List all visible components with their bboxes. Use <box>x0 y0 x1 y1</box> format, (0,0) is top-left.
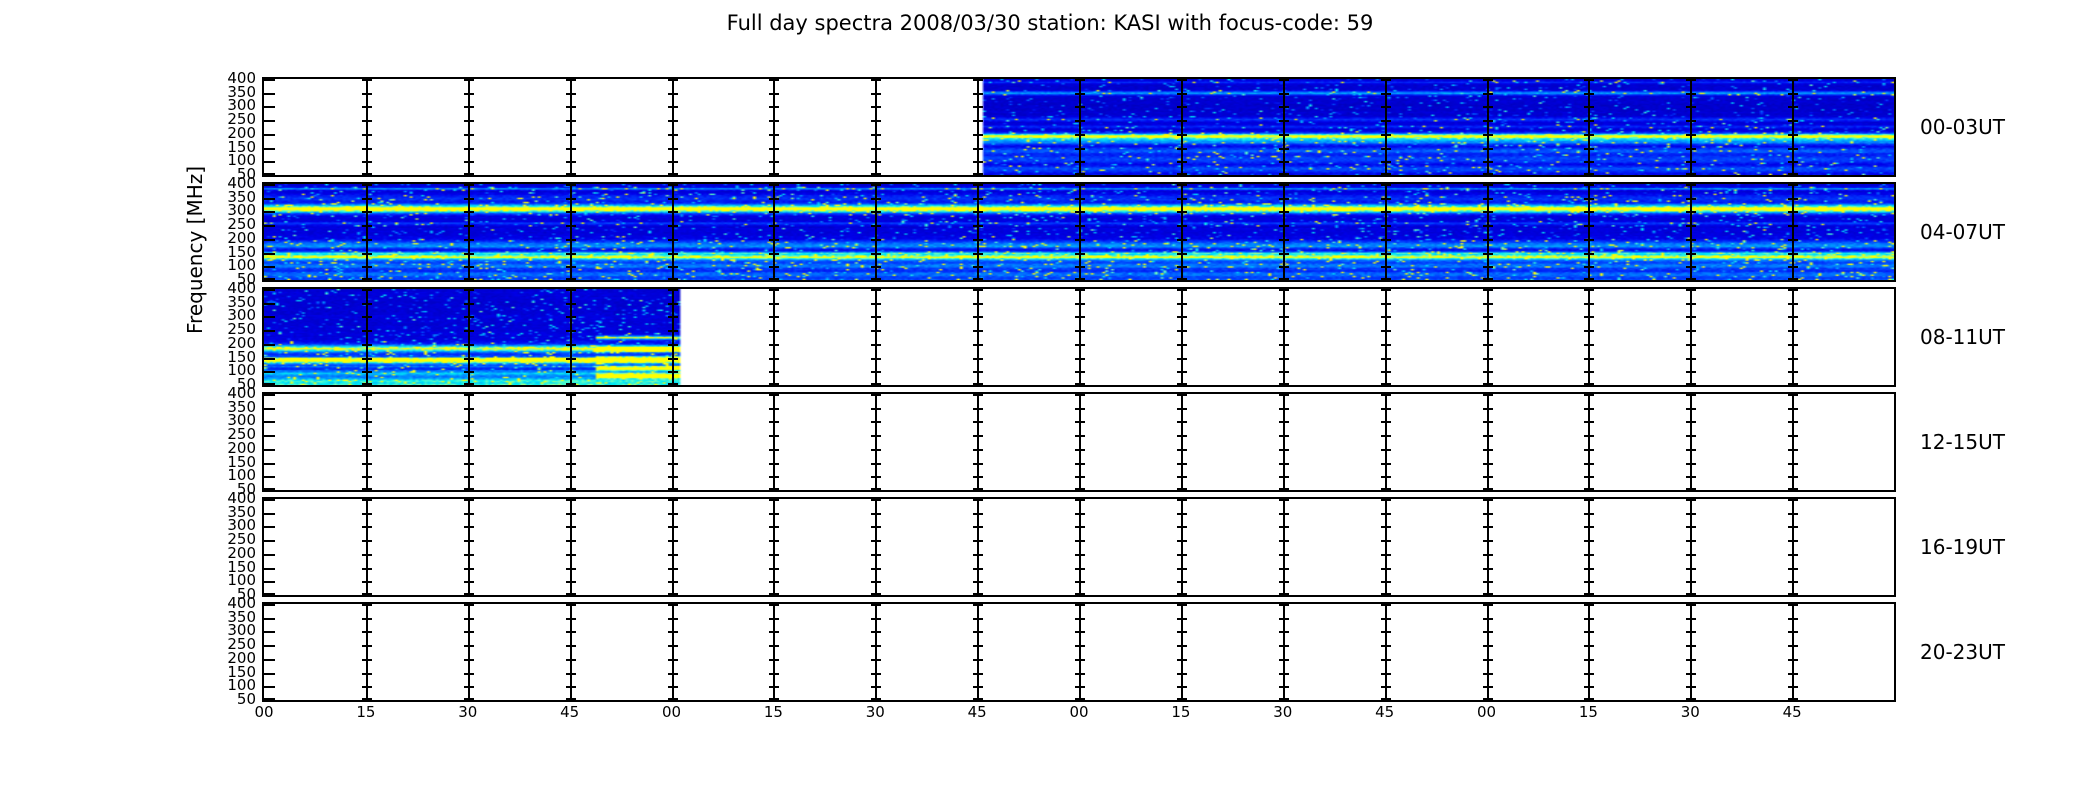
grid-tick-mark <box>1075 93 1085 95</box>
grid-tick-mark <box>1483 239 1493 241</box>
grid-tick-mark <box>769 303 779 305</box>
grid-tick-mark <box>464 316 474 318</box>
grid-tick-mark <box>1075 278 1085 280</box>
grid-tick-mark <box>973 184 983 186</box>
grid-tick-mark <box>1279 120 1289 122</box>
grid-tick-mark <box>1381 371 1391 373</box>
grid-tick-mark <box>362 278 372 280</box>
grid-tick-mark <box>1686 698 1696 700</box>
grid-tick-mark <box>1279 316 1289 318</box>
grid-tick-mark <box>1279 686 1289 688</box>
grid-tick-mark <box>1483 134 1493 136</box>
grid-tick-mark <box>1279 526 1289 528</box>
grid-tick-mark <box>1483 568 1493 570</box>
grid-tick-mark <box>973 289 983 291</box>
grid-tick-mark <box>362 184 372 186</box>
grid-tick-mark <box>1279 476 1289 478</box>
grid-tick-mark <box>362 568 372 570</box>
grid-tick-mark <box>464 540 474 542</box>
grid-tick-mark <box>769 148 779 150</box>
grid-tick-mark <box>1483 266 1493 268</box>
grid-tick-mark <box>1788 645 1798 647</box>
grid-tick-mark <box>668 499 678 501</box>
y-tick-mark <box>264 686 275 688</box>
grid-tick-mark <box>362 593 372 595</box>
grid-tick-mark <box>769 618 779 620</box>
grid-tick-mark <box>871 383 881 385</box>
grid-tick-mark <box>566 449 576 451</box>
grid-tick-mark <box>362 161 372 163</box>
grid-tick-mark <box>1584 673 1594 675</box>
grid-tick-mark <box>1483 698 1493 700</box>
grid-tick-mark <box>464 173 474 175</box>
grid-tick-mark <box>871 303 881 305</box>
grid-tick-mark <box>1483 225 1493 227</box>
grid-tick-mark <box>1483 659 1493 661</box>
grid-tick-mark <box>362 148 372 150</box>
y-tick-mark <box>264 568 275 570</box>
grid-tick-mark <box>973 198 983 200</box>
grid-tick-mark <box>566 408 576 410</box>
grid-tick-mark <box>1177 631 1187 633</box>
grid-tick-mark <box>1177 581 1187 583</box>
grid-tick-mark <box>1075 358 1085 360</box>
y-tick-mark <box>264 698 275 700</box>
grid-tick-mark <box>1686 330 1696 332</box>
grid-tick-mark <box>1584 225 1594 227</box>
grid-tick-mark <box>1686 198 1696 200</box>
grid-tick-mark <box>1483 463 1493 465</box>
grid-tick-mark <box>668 488 678 490</box>
grid-tick-mark <box>1075 618 1085 620</box>
grid-tick-mark <box>464 344 474 346</box>
grid-tick-mark <box>362 344 372 346</box>
grid-tick-mark <box>668 673 678 675</box>
grid-tick-mark <box>1686 184 1696 186</box>
grid-tick-mark <box>566 198 576 200</box>
grid-tick-mark <box>464 79 474 81</box>
grid-tick-mark <box>362 673 372 675</box>
grid-tick-mark <box>1279 93 1289 95</box>
grid-tick-mark <box>566 344 576 346</box>
grid-tick-mark <box>1584 408 1594 410</box>
grid-tick-mark <box>1075 106 1085 108</box>
y-tick-mark <box>264 106 275 108</box>
grid-tick-mark <box>871 659 881 661</box>
grid-tick-mark <box>1075 266 1085 268</box>
x-tick-label: 00 <box>244 703 284 721</box>
grid-tick-mark <box>566 604 576 606</box>
grid-tick-mark <box>668 198 678 200</box>
grid-tick-mark <box>1483 106 1493 108</box>
grid-tick-mark <box>1177 593 1187 595</box>
grid-tick-mark <box>1381 161 1391 163</box>
grid-tick-mark <box>362 686 372 688</box>
grid-tick-mark <box>1177 463 1187 465</box>
grid-tick-mark <box>464 618 474 620</box>
grid-tick-mark <box>566 513 576 515</box>
grid-tick-mark <box>1686 316 1696 318</box>
grid-tick-mark <box>1279 225 1289 227</box>
grid-tick-mark <box>668 278 678 280</box>
grid-tick-mark <box>464 303 474 305</box>
grid-tick-mark <box>566 184 576 186</box>
grid-tick-mark <box>1483 488 1493 490</box>
grid-tick-mark <box>1788 211 1798 213</box>
y-tick-mark <box>264 673 275 675</box>
panel-time-label-16-19ut: 16-19UT <box>1920 535 2005 559</box>
grid-tick-mark <box>871 554 881 556</box>
grid-tick-mark <box>973 344 983 346</box>
grid-tick-mark <box>1279 499 1289 501</box>
grid-tick-mark <box>1075 554 1085 556</box>
y-tick-mark <box>264 463 275 465</box>
grid-tick-mark <box>1177 93 1187 95</box>
y-tick-mark <box>264 79 275 81</box>
grid-tick-mark <box>566 106 576 108</box>
grid-tick-mark <box>1584 79 1594 81</box>
grid-tick-mark <box>1279 540 1289 542</box>
y-tick-mark <box>264 184 275 186</box>
grid-tick-mark <box>566 383 576 385</box>
grid-tick-mark <box>769 421 779 423</box>
grid-tick-mark <box>1177 289 1187 291</box>
grid-tick-mark <box>1686 239 1696 241</box>
grid-tick-mark <box>769 225 779 227</box>
grid-tick-mark <box>1177 513 1187 515</box>
grid-tick-mark <box>1788 554 1798 556</box>
grid-tick-mark <box>668 698 678 700</box>
grid-tick-mark <box>1075 421 1085 423</box>
grid-tick-mark <box>668 316 678 318</box>
grid-tick-mark <box>1381 106 1391 108</box>
grid-tick-mark <box>362 659 372 661</box>
grid-tick-mark <box>1584 239 1594 241</box>
grid-tick-mark <box>668 330 678 332</box>
grid-tick-mark <box>1483 421 1493 423</box>
grid-tick-mark <box>1279 266 1289 268</box>
grid-tick-mark <box>1686 659 1696 661</box>
grid-tick-mark <box>973 526 983 528</box>
grid-tick-mark <box>871 394 881 396</box>
grid-tick-mark <box>1686 161 1696 163</box>
grid-tick-mark <box>1177 120 1187 122</box>
y-tick-mark <box>264 289 275 291</box>
grid-tick-mark <box>362 698 372 700</box>
grid-tick-mark <box>566 463 576 465</box>
grid-tick-mark <box>1381 358 1391 360</box>
grid-tick-mark <box>1686 499 1696 501</box>
grid-tick-mark <box>769 278 779 280</box>
grid-tick-mark <box>1075 225 1085 227</box>
grid-tick-mark <box>1483 358 1493 360</box>
grid-tick-mark <box>464 120 474 122</box>
figure-title: Full day spectra 2008/03/30 station: KAS… <box>0 11 2100 35</box>
grid-tick-mark <box>566 93 576 95</box>
grid-tick-mark <box>973 394 983 396</box>
grid-tick-mark <box>1279 698 1289 700</box>
grid-tick-mark <box>1177 698 1187 700</box>
grid-tick-mark <box>566 161 576 163</box>
grid-tick-mark <box>1177 554 1187 556</box>
x-tick-label: 30 <box>855 703 895 721</box>
grid-tick-mark <box>1686 604 1696 606</box>
grid-tick-mark <box>1788 421 1798 423</box>
grid-tick-mark <box>1279 148 1289 150</box>
grid-tick-mark <box>1075 211 1085 213</box>
x-tick-label: 45 <box>550 703 590 721</box>
x-tick-label: 15 <box>753 703 793 721</box>
grid-tick-mark <box>871 198 881 200</box>
grid-tick-mark <box>362 289 372 291</box>
grid-tick-mark <box>871 330 881 332</box>
grid-tick-mark <box>1075 330 1085 332</box>
grid-tick-mark <box>1279 79 1289 81</box>
grid-tick-mark <box>464 239 474 241</box>
spectrogram-panel-12-15ut[interactable] <box>262 392 1896 492</box>
x-tick-label: 00 <box>652 703 692 721</box>
grid-tick-mark <box>1381 604 1391 606</box>
grid-tick-mark <box>668 618 678 620</box>
grid-tick-mark <box>1584 645 1594 647</box>
grid-tick-mark <box>566 173 576 175</box>
grid-tick-mark <box>769 316 779 318</box>
grid-tick-mark <box>1279 303 1289 305</box>
spectrogram-panel-16-19ut[interactable] <box>262 497 1896 597</box>
grid-tick-mark <box>362 173 372 175</box>
grid-tick-mark <box>1788 383 1798 385</box>
y-tick-mark <box>264 526 275 528</box>
grid-tick-mark <box>1584 513 1594 515</box>
grid-tick-mark <box>1177 476 1187 478</box>
grid-tick-mark <box>362 79 372 81</box>
grid-tick-mark <box>1686 253 1696 255</box>
grid-tick-mark <box>1788 408 1798 410</box>
grid-tick-mark <box>1483 344 1493 346</box>
grid-tick-mark <box>566 435 576 437</box>
grid-tick-mark <box>1075 513 1085 515</box>
grid-tick-mark <box>566 593 576 595</box>
grid-tick-mark <box>362 476 372 478</box>
grid-tick-mark <box>1483 120 1493 122</box>
grid-tick-mark <box>1686 344 1696 346</box>
grid-tick-mark <box>566 134 576 136</box>
grid-tick-mark <box>1788 93 1798 95</box>
grid-tick-mark <box>973 499 983 501</box>
grid-tick-mark <box>973 488 983 490</box>
grid-tick-mark <box>1075 488 1085 490</box>
grid-tick-mark <box>973 211 983 213</box>
grid-tick-mark <box>769 435 779 437</box>
grid-tick-mark <box>668 303 678 305</box>
grid-tick-mark <box>1381 148 1391 150</box>
grid-tick-mark <box>1483 435 1493 437</box>
grid-tick-mark <box>769 120 779 122</box>
grid-tick-mark <box>1177 198 1187 200</box>
grid-tick-mark <box>1788 593 1798 595</box>
grid-tick-mark <box>464 278 474 280</box>
grid-tick-mark <box>566 225 576 227</box>
grid-tick-mark <box>1381 618 1391 620</box>
grid-tick-mark <box>1381 120 1391 122</box>
grid-tick-mark <box>1177 358 1187 360</box>
grid-tick-mark <box>1584 289 1594 291</box>
grid-tick-mark <box>1584 394 1594 396</box>
grid-tick-mark <box>769 554 779 556</box>
grid-tick-mark <box>1584 449 1594 451</box>
grid-tick-mark <box>1483 161 1493 163</box>
grid-tick-mark <box>1788 358 1798 360</box>
grid-tick-mark <box>362 554 372 556</box>
grid-tick-mark <box>668 394 678 396</box>
grid-tick-mark <box>1483 513 1493 515</box>
grid-tick-mark <box>1788 79 1798 81</box>
grid-tick-mark <box>362 581 372 583</box>
y-tick-mark <box>264 173 275 175</box>
grid-tick-mark <box>973 161 983 163</box>
grid-tick-mark <box>1686 540 1696 542</box>
grid-tick-mark <box>1584 120 1594 122</box>
grid-tick-mark <box>871 449 881 451</box>
grid-tick-mark <box>1788 225 1798 227</box>
grid-tick-mark <box>1584 476 1594 478</box>
grid-tick-mark <box>464 698 474 700</box>
grid-tick-mark <box>973 554 983 556</box>
grid-tick-mark <box>566 659 576 661</box>
grid-tick-mark <box>1788 253 1798 255</box>
y-tick-mark <box>264 659 275 661</box>
grid-tick-mark <box>1686 371 1696 373</box>
y-tick-mark <box>264 383 275 385</box>
grid-tick-mark <box>1279 198 1289 200</box>
grid-tick-mark <box>1788 513 1798 515</box>
grid-tick-mark <box>769 686 779 688</box>
grid-tick-mark <box>1584 581 1594 583</box>
grid-tick-mark <box>871 618 881 620</box>
grid-tick-mark <box>1788 698 1798 700</box>
grid-tick-mark <box>1075 184 1085 186</box>
grid-tick-mark <box>871 686 881 688</box>
grid-tick-mark <box>1788 499 1798 501</box>
grid-tick-mark <box>1686 93 1696 95</box>
grid-tick-mark <box>1788 604 1798 606</box>
grid-tick-mark <box>1075 568 1085 570</box>
x-tick-label: 45 <box>1772 703 1812 721</box>
grid-tick-mark <box>1584 593 1594 595</box>
grid-tick-mark <box>973 673 983 675</box>
grid-tick-mark <box>769 106 779 108</box>
spectrogram-panel-08-11ut[interactable] <box>262 287 1896 387</box>
grid-tick-mark <box>1584 604 1594 606</box>
grid-tick-mark <box>1279 394 1289 396</box>
grid-tick-mark <box>668 266 678 268</box>
grid-tick-mark <box>1483 148 1493 150</box>
grid-tick-mark <box>1075 698 1085 700</box>
grid-tick-mark <box>871 526 881 528</box>
grid-tick-mark <box>1686 358 1696 360</box>
grid-tick-mark <box>1381 645 1391 647</box>
grid-tick-mark <box>1584 330 1594 332</box>
grid-tick-mark <box>1788 618 1798 620</box>
grid-tick-mark <box>1584 435 1594 437</box>
grid-tick-mark <box>973 278 983 280</box>
y-tick-mark <box>264 120 275 122</box>
grid-tick-mark <box>1075 526 1085 528</box>
grid-tick-mark <box>973 659 983 661</box>
grid-tick-mark <box>1788 488 1798 490</box>
grid-tick-mark <box>1177 303 1187 305</box>
spectrogram-panel-20-23ut[interactable] <box>262 602 1896 702</box>
grid-tick-mark <box>1075 686 1085 688</box>
grid-tick-mark <box>1686 476 1696 478</box>
grid-tick-mark <box>973 593 983 595</box>
grid-tick-mark <box>1686 435 1696 437</box>
grid-tick-mark <box>973 383 983 385</box>
grid-tick-mark <box>871 278 881 280</box>
grid-tick-mark <box>1686 673 1696 675</box>
spectrogram-panel-04-07ut[interactable] <box>262 182 1896 282</box>
grid-tick-mark <box>1584 253 1594 255</box>
grid-tick-mark <box>362 371 372 373</box>
grid-tick-mark <box>1584 266 1594 268</box>
grid-tick-mark <box>1686 568 1696 570</box>
panel-time-label-00-03ut: 00-03UT <box>1920 115 2005 139</box>
grid-tick-mark <box>668 253 678 255</box>
grid-tick-mark <box>464 266 474 268</box>
grid-tick-mark <box>1075 659 1085 661</box>
grid-tick-mark <box>1686 120 1696 122</box>
grid-tick-mark <box>871 488 881 490</box>
grid-tick-mark <box>1075 344 1085 346</box>
grid-tick-mark <box>1483 631 1493 633</box>
spectrogram-panel-00-03ut[interactable] <box>262 77 1896 177</box>
grid-tick-mark <box>973 449 983 451</box>
grid-tick-mark <box>566 303 576 305</box>
grid-tick-mark <box>1584 358 1594 360</box>
grid-tick-mark <box>1075 581 1085 583</box>
grid-tick-mark <box>464 631 474 633</box>
x-tick-label: 30 <box>1263 703 1303 721</box>
spectrogram-figure: Full day spectra 2008/03/30 station: KAS… <box>0 0 2100 800</box>
grid-tick-mark <box>1584 526 1594 528</box>
grid-tick-mark <box>464 449 474 451</box>
grid-tick-mark <box>1483 198 1493 200</box>
grid-tick-mark <box>769 289 779 291</box>
grid-tick-mark <box>1075 449 1085 451</box>
grid-tick-mark <box>1381 488 1391 490</box>
grid-tick-mark <box>973 253 983 255</box>
grid-tick-mark <box>1279 673 1289 675</box>
panel-time-label-20-23ut: 20-23UT <box>1920 640 2005 664</box>
grid-tick-mark <box>566 499 576 501</box>
grid-tick-mark <box>566 211 576 213</box>
grid-tick-mark <box>871 421 881 423</box>
grid-tick-mark <box>1686 449 1696 451</box>
grid-tick-mark <box>1483 593 1493 595</box>
grid-tick-mark <box>769 593 779 595</box>
grid-tick-mark <box>1381 499 1391 501</box>
grid-tick-mark <box>668 686 678 688</box>
grid-tick-mark <box>464 253 474 255</box>
y-tick-mark <box>264 604 275 606</box>
grid-tick-mark <box>769 394 779 396</box>
grid-tick-mark <box>668 568 678 570</box>
grid-tick-mark <box>1483 476 1493 478</box>
y-tick-mark <box>264 239 275 241</box>
grid-tick-mark <box>464 581 474 583</box>
y-tick-mark <box>264 198 275 200</box>
grid-tick-mark <box>362 488 372 490</box>
